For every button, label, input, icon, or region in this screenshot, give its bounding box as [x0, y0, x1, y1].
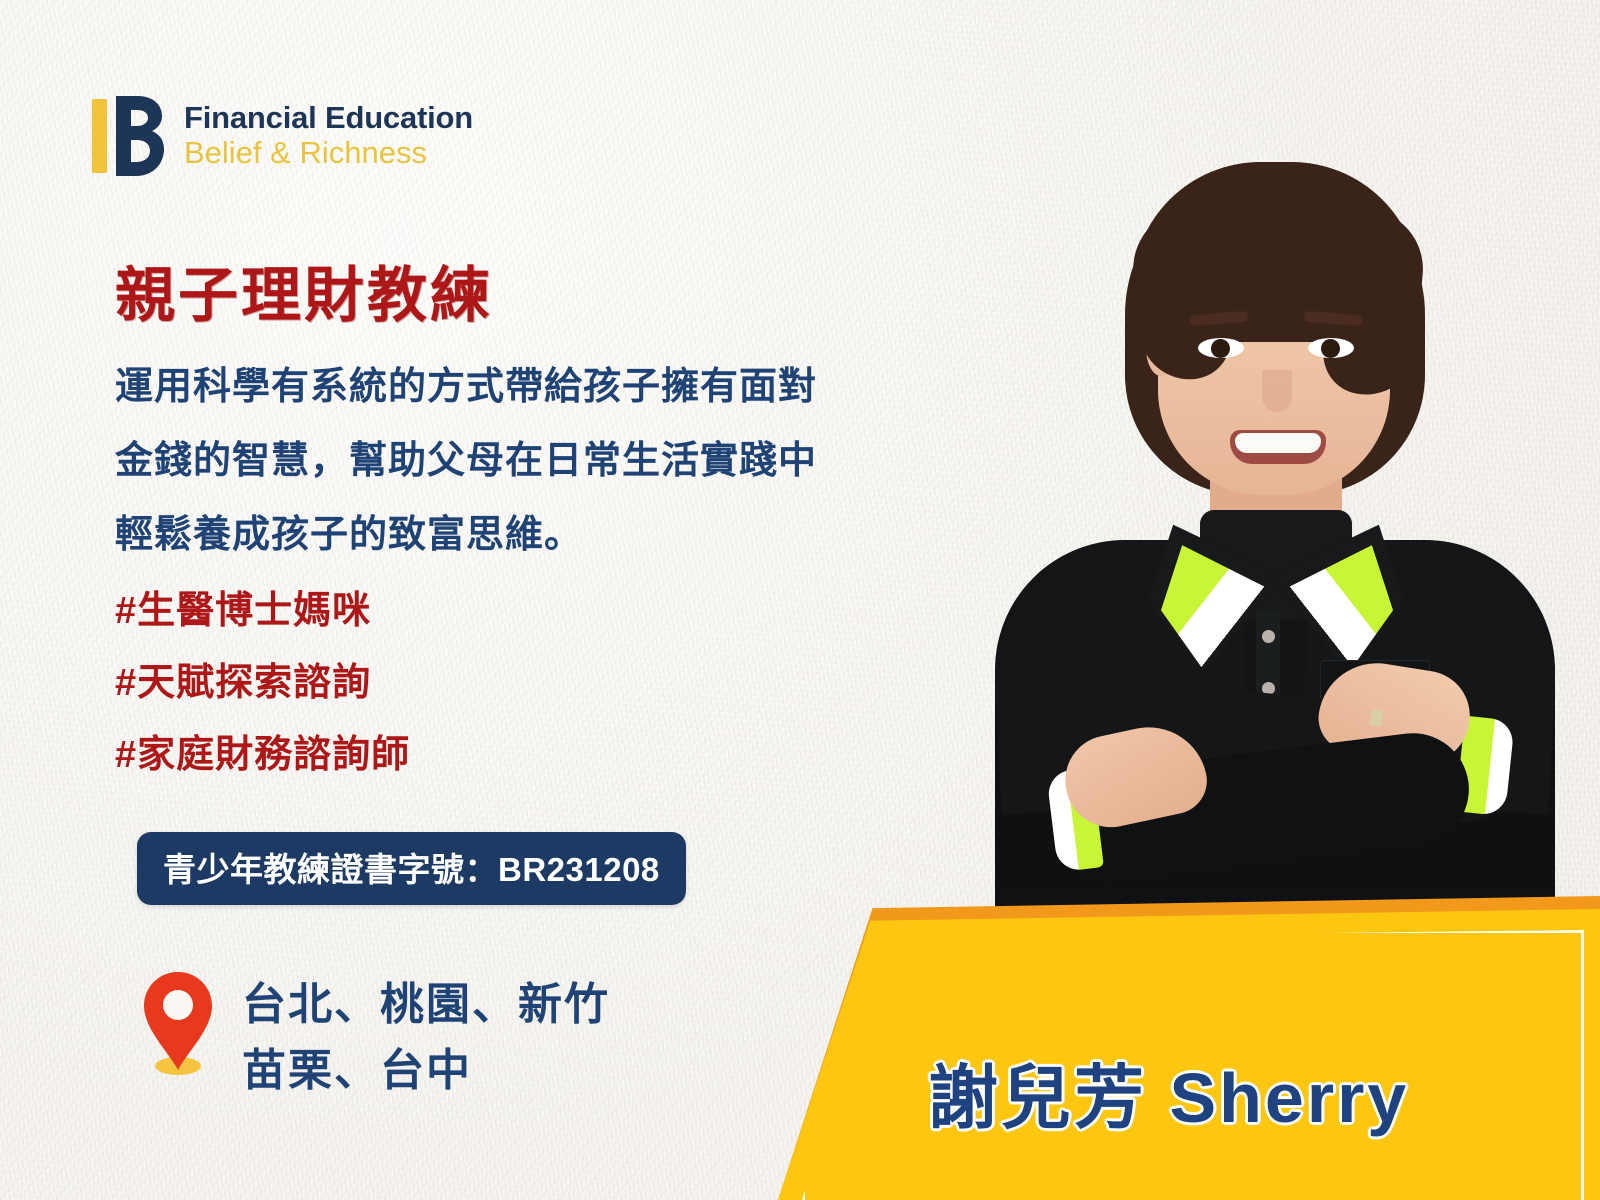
person-name: 謝兒芳 Sherry [928, 1042, 1409, 1143]
hashtag-list: #生醫博士媽咪 #天賦探索諮詢 #家庭財務諮詢師 [115, 575, 410, 791]
name-banner: 謝兒芳 Sherry [778, 896, 1600, 1200]
brand-line-1: Financial Education [184, 102, 473, 135]
brand-logo: Financial Education Belief & Richness [92, 96, 473, 176]
brand-line-2: Belief & Richness [184, 137, 473, 170]
hashtag-item: #生醫博士媽咪 [115, 575, 410, 647]
certificate-badge: 青少年教練證書字號：BR231208 [137, 832, 686, 905]
location-line: 台北、桃園、新竹 [242, 972, 610, 1038]
br-monogram-icon [92, 96, 164, 176]
logo-b-glyph-icon [116, 96, 164, 176]
logo-yellow-bar [92, 99, 107, 173]
eye-right [1308, 338, 1354, 358]
map-pin-icon [140, 966, 216, 1076]
hashtag-item: #天賦探索諮詢 [115, 647, 410, 719]
location-block: 台北、桃園、新竹 苗栗、台中 [140, 962, 610, 1104]
brand-wordmark: Financial Education Belief & Richness [184, 102, 473, 169]
nose [1262, 370, 1292, 412]
description-line: 運用科學有系統的方式帶給孩子擁有面對 [115, 350, 905, 424]
location-text: 台北、桃園、新竹 苗栗、台中 [242, 962, 610, 1104]
shirt-button [1262, 630, 1275, 643]
page-title: 親子理財教練 [115, 247, 493, 334]
mouth [1230, 430, 1326, 464]
description-line: 輕鬆養成孩子的致富思維。 [115, 498, 905, 572]
ring [1369, 709, 1383, 727]
eye-left [1198, 338, 1244, 358]
hashtag-item: #家庭財務諮詢師 [115, 719, 410, 791]
description-paragraph: 運用科學有系統的方式帶給孩子擁有面對 金錢的智慧，幫助父母在日常生活實踐中 輕鬆… [115, 350, 905, 572]
location-line: 苗栗、台中 [242, 1038, 610, 1104]
profile-card: Financial Education Belief & Richness 親子… [0, 0, 1600, 1200]
description-line: 金錢的智慧，幫助父母在日常生活實踐中 [115, 424, 905, 498]
